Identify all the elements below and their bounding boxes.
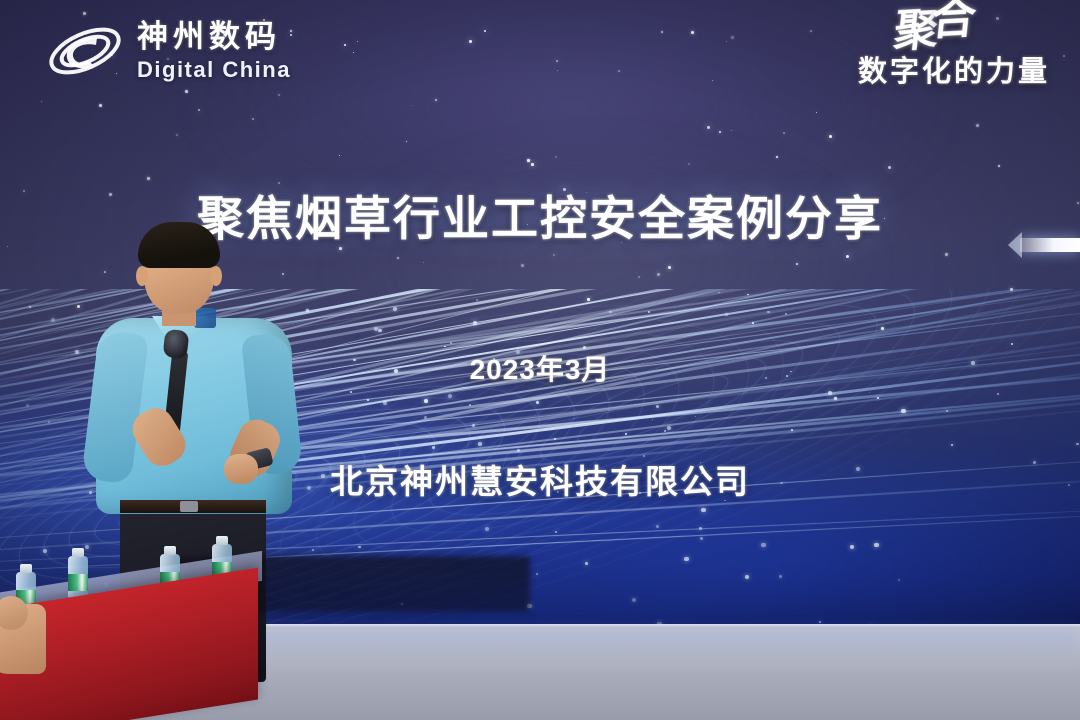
star-particle (688, 163, 690, 165)
wave-particle (951, 444, 953, 446)
star-particle (484, 30, 486, 32)
star-particle (435, 99, 437, 101)
star-particle (185, 90, 188, 93)
star-particle (555, 156, 557, 158)
star-particle (945, 253, 948, 256)
bottle-cap (216, 536, 228, 545)
star-particle (339, 155, 340, 156)
speaker-ear-right (210, 266, 222, 286)
star-particle (406, 141, 407, 142)
wave-particle (478, 442, 482, 446)
wave-particle (1076, 443, 1079, 446)
star-particle (357, 41, 358, 42)
star-particle (1063, 55, 1065, 57)
wave-particle (555, 531, 557, 533)
wave-particle (664, 430, 666, 432)
star-particle (618, 70, 620, 72)
star-particle (707, 126, 710, 129)
wave-particle (51, 318, 55, 322)
star-particle (719, 131, 721, 133)
star-particle (691, 31, 694, 34)
star-particle (976, 124, 979, 127)
wave-particle (701, 508, 706, 513)
conference-photo: 聚焦烟草行业工控安全案例分享 2023年3月 北京神州慧安科技有限公司 神州数码… (0, 0, 1080, 720)
wave-particle (946, 410, 948, 412)
wave-particle (850, 545, 854, 549)
star-particle (829, 135, 832, 138)
star-particle (176, 134, 178, 136)
wave-particle (473, 321, 477, 325)
star-particle (731, 36, 734, 39)
bottle-cap (20, 564, 32, 573)
wave-particle (43, 549, 47, 553)
wave-particle (625, 433, 627, 435)
wave-particle (901, 409, 906, 414)
wave-particle (383, 401, 387, 405)
wave-particle (424, 399, 428, 403)
star-particle (557, 70, 558, 71)
star-particle (469, 40, 472, 43)
speaker-ear-left (136, 266, 148, 286)
star-particle (783, 132, 785, 134)
spiral-core (67, 38, 97, 68)
star-particle (412, 105, 413, 106)
wave-particle (779, 575, 782, 578)
star-particle (998, 165, 1000, 167)
star-particle (527, 159, 530, 162)
wave-particle (517, 449, 520, 452)
wave-particle (358, 546, 361, 549)
wave-particle (667, 426, 671, 430)
bottle-cap (164, 546, 176, 555)
accent-bar (1020, 238, 1080, 252)
star-particle (668, 266, 671, 269)
wave-particle (828, 391, 832, 395)
wave-particle (747, 294, 749, 296)
star-particle (278, 94, 280, 96)
wave-particle (761, 543, 766, 548)
star-particle (726, 41, 727, 42)
wave-particle (752, 322, 754, 324)
wave-particle (791, 429, 793, 431)
star-particle (776, 156, 778, 158)
star-particle (888, 166, 891, 169)
wave-particle (85, 545, 89, 549)
star-particle (638, 276, 640, 278)
wave-particle (476, 299, 478, 301)
wave-particle (656, 405, 659, 408)
wave-particle (609, 311, 612, 314)
star-particle (353, 52, 354, 53)
slogan-brush-char-2: 合 (929, 0, 977, 45)
wave-particle (312, 549, 314, 551)
star-particle (83, 12, 86, 15)
speaker-right-hand (224, 454, 258, 484)
star-particle (657, 273, 660, 276)
wave-particle (485, 527, 489, 531)
brand-name-cn: 神州数码 (137, 21, 291, 52)
wave-particle (700, 537, 703, 540)
wave-particle (393, 307, 397, 311)
belt-buckle (180, 501, 198, 512)
wave-particle (585, 562, 588, 565)
event-slogan: 聚合 数字化的力量 (858, 14, 1050, 90)
star-particle (816, 112, 817, 113)
wave-particle (718, 292, 720, 294)
wave-particle (684, 557, 689, 562)
wave-particle (656, 525, 659, 528)
wave-particle (874, 543, 879, 548)
wave-particle (450, 342, 452, 344)
star-particle (796, 263, 798, 265)
star-particle (556, 60, 558, 62)
star-particle (531, 163, 534, 166)
star-particle (198, 109, 200, 111)
star-particle (521, 264, 524, 267)
shirt-logo-emblem (194, 308, 216, 328)
speaker-hair (138, 222, 220, 268)
star-particle (344, 44, 346, 46)
wave-particle (536, 573, 538, 575)
star-particle (397, 257, 399, 259)
wave-particle (745, 575, 749, 579)
digital-china-spiral-icon (45, 16, 125, 86)
star-particle (41, 101, 42, 102)
wave-particle (767, 311, 770, 314)
star-particle (731, 130, 732, 131)
slogan-subtitle: 数字化的力量 (858, 48, 1050, 90)
star-particle (846, 255, 849, 258)
star-particle (661, 31, 663, 33)
star-particle (712, 80, 713, 81)
wave-particle (378, 329, 382, 333)
wave-particle (819, 621, 821, 623)
digital-china-logo: 神州数码 Digital China (45, 16, 291, 86)
bottle-cap (72, 548, 84, 557)
brand-name-en: Digital China (137, 59, 291, 81)
wave-particle (554, 438, 556, 440)
wave-particle (448, 394, 452, 398)
wave-particle (367, 399, 369, 401)
star-particle (99, 104, 102, 107)
star-particle (252, 118, 254, 120)
wave-particle (898, 579, 900, 581)
bottle-label (68, 574, 88, 591)
wave-particle (536, 401, 539, 404)
star-particle (423, 262, 424, 263)
wave-particle (699, 527, 702, 530)
wave-particle (432, 446, 435, 449)
wave-particle (632, 598, 636, 602)
star-particle (553, 254, 555, 256)
